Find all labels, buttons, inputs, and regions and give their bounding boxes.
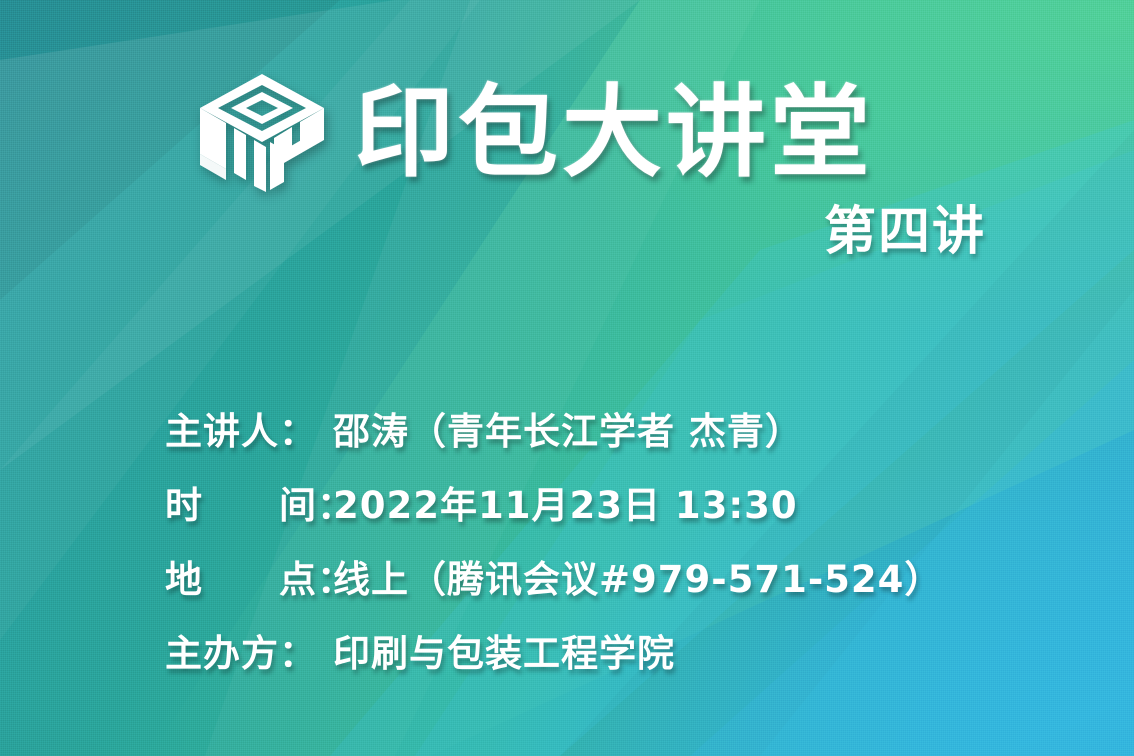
- detail-value-location: 线上（腾讯会议#979-571-524）: [333, 549, 942, 603]
- isometric-cube-logo-icon: [196, 72, 328, 194]
- event-poster: 印包大讲堂 第四讲 主讲人： 邵涛（青年长江学者 杰青） 时 间： 2022年1…: [0, 0, 1134, 756]
- detail-value-time: 2022年11月23日 13:30: [333, 475, 798, 529]
- detail-label-speaker: 主讲人：: [165, 401, 333, 455]
- detail-label-organizer: 主办方：: [165, 623, 333, 677]
- detail-row-time: 时 间： 2022年11月23日 13:30: [165, 465, 942, 539]
- detail-row-speaker: 主讲人： 邵涛（青年长江学者 杰青）: [165, 391, 942, 465]
- detail-label-time: 时 间：: [165, 475, 333, 529]
- brand-header: 印包大讲堂: [196, 72, 874, 194]
- poster-title: 印包大讲堂: [354, 83, 874, 183]
- poster-subtitle: 第四讲: [824, 206, 986, 258]
- detail-value-organizer: 印刷与包装工程学院: [333, 623, 675, 677]
- event-details-list: 主讲人： 邵涛（青年长江学者 杰青） 时 间： 2022年11月23日 13:3…: [165, 391, 942, 687]
- detail-value-speaker: 邵涛（青年长江学者 杰青）: [333, 401, 803, 455]
- detail-label-location: 地 点：: [165, 549, 333, 603]
- detail-row-organizer: 主办方： 印刷与包装工程学院: [165, 613, 942, 687]
- detail-row-location: 地 点： 线上（腾讯会议#979-571-524）: [165, 539, 942, 613]
